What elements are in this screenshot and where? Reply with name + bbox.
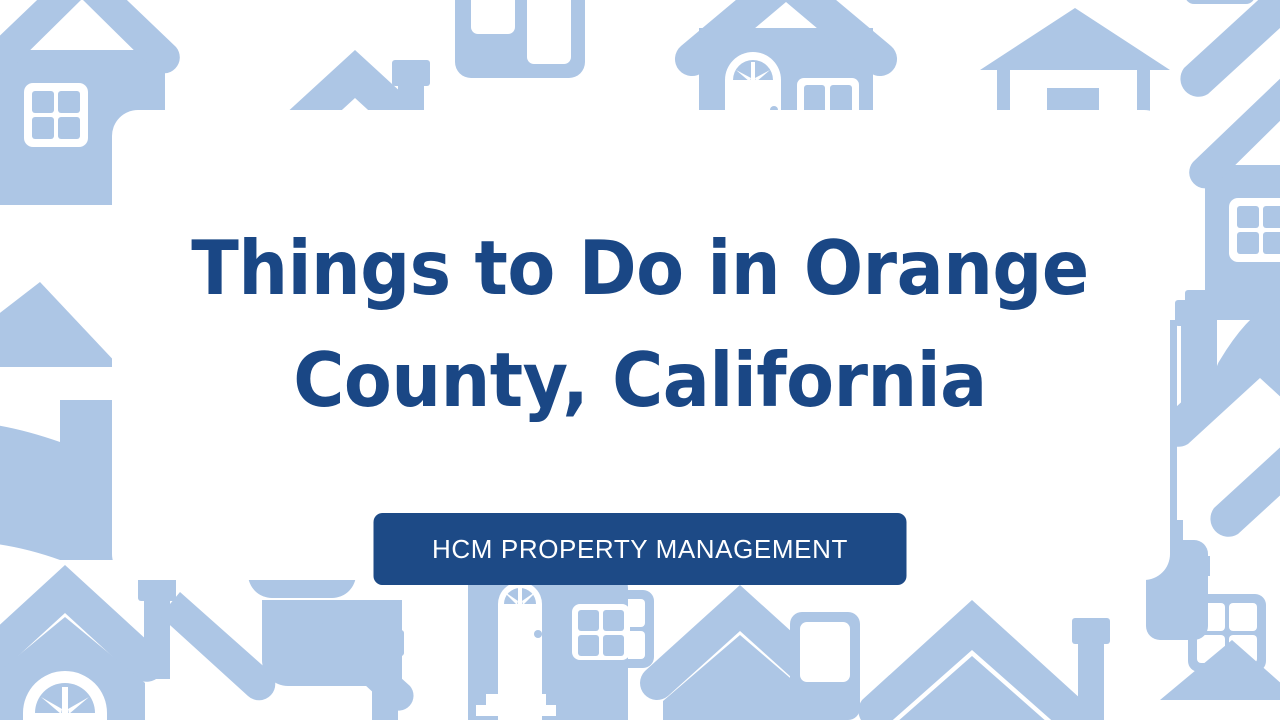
hcm-property-management-button[interactable]: HCM PROPERTY MANAGEMENT — [374, 513, 907, 585]
slide-canvas: Things to Do in Orange County, Californi… — [0, 0, 1280, 720]
page-title-line-1: Things to Do in Orange — [175, 212, 1105, 324]
slide-foreground: Things to Do in Orange County, Californi… — [0, 0, 1280, 720]
page-title-line-2: County, California — [175, 324, 1105, 436]
page-title: Things to Do in Orange County, Californi… — [140, 212, 1140, 436]
